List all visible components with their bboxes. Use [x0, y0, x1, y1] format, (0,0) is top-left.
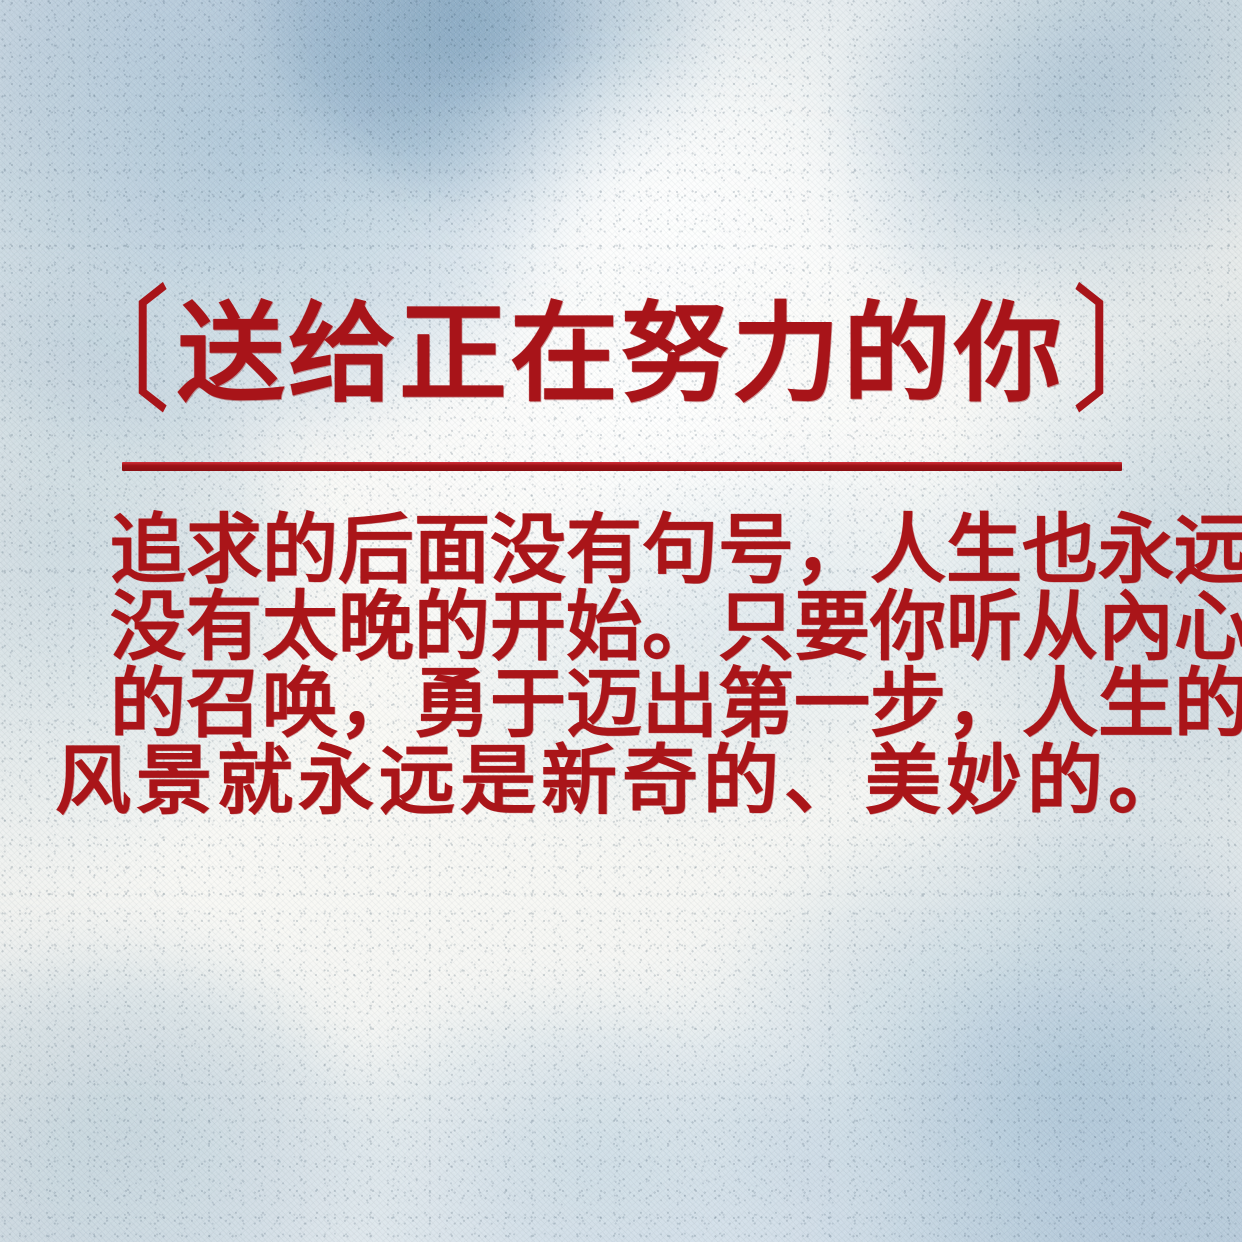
body-char: 远 — [1174, 512, 1242, 588]
body-char: 永 — [298, 743, 379, 819]
body-char: 追 — [110, 512, 186, 588]
body-char: 要 — [794, 589, 870, 665]
body-char: 唤 — [262, 666, 338, 742]
title-text: 送给正在努力的你 — [177, 296, 1065, 413]
body-char: 从 — [1022, 589, 1098, 665]
page-title: 〔 送给正在努力的你 〕 — [110, 296, 1132, 413]
body-char: ， — [946, 666, 1022, 742]
body-char: 人 — [870, 512, 946, 588]
body-char: 的 — [414, 589, 490, 665]
body-char: 美 — [865, 743, 946, 819]
body-char: 第 — [718, 666, 794, 742]
body-char: 、 — [784, 743, 865, 819]
body-char: 有 — [566, 512, 642, 588]
body-char: 的 — [110, 666, 186, 742]
bracket-close-icon: 〕 — [1071, 286, 1183, 423]
body-char: 就 — [217, 743, 298, 819]
body-char: 永 — [1098, 512, 1174, 588]
body-line: 没有太晚的开始。只要你听从內心 — [110, 589, 1134, 665]
body-char: 心 — [1174, 589, 1242, 665]
body-char: 你 — [870, 589, 946, 665]
body-char: 太 — [262, 589, 338, 665]
body-char: 生 — [1098, 666, 1174, 742]
body-char: 远 — [379, 743, 460, 819]
body-char: 新 — [541, 743, 622, 819]
body-char: 始 — [566, 589, 642, 665]
body-char: 晚 — [338, 589, 414, 665]
body-char: 內 — [1098, 589, 1174, 665]
body-char: 风 — [55, 743, 136, 819]
body-char: 出 — [642, 666, 718, 742]
body-char: 奇 — [622, 743, 703, 819]
body-char: 勇 — [414, 666, 490, 742]
body-char: 的 — [1027, 743, 1108, 819]
body-char: 也 — [1022, 512, 1098, 588]
body-char: 的 — [262, 512, 338, 588]
poster-content: 〔 送给正在努力的你 〕 追求的后面没有句号，人生也永远 没有太晚的开始。只要你… — [0, 0, 1242, 1242]
body-char: ， — [794, 512, 870, 588]
body-line: 风景就永远是新奇的、美妙的。 — [110, 743, 1134, 819]
body-char: 步 — [870, 666, 946, 742]
body-char: 句 — [642, 512, 718, 588]
body-char: 没 — [110, 589, 186, 665]
body-char: 求 — [186, 512, 262, 588]
body-char: 听 — [946, 589, 1022, 665]
body-text-block: 追求的后面没有句号，人生也永远 没有太晚的开始。只要你听从內心 的召唤，勇于迈出… — [110, 512, 1134, 819]
body-char: 迈 — [566, 666, 642, 742]
body-char: 有 — [186, 589, 262, 665]
divider-rule — [122, 462, 1122, 471]
bracket-open-icon: 〔 — [59, 286, 171, 423]
body-char: 召 — [186, 666, 262, 742]
poster-canvas: 〔 送给正在努力的你 〕 追求的后面没有句号，人生也永远 没有太晚的开始。只要你… — [0, 0, 1242, 1242]
body-char: ， — [338, 666, 414, 742]
body-char: 于 — [490, 666, 566, 742]
body-char: 没 — [490, 512, 566, 588]
body-char: 。 — [642, 589, 718, 665]
body-char: 是 — [460, 743, 541, 819]
body-char: 开 — [490, 589, 566, 665]
body-char: 的 — [1174, 666, 1242, 742]
body-char: 。 — [1108, 743, 1189, 819]
body-char: 面 — [414, 512, 490, 588]
body-char: 的 — [703, 743, 784, 819]
body-line: 追求的后面没有句号，人生也永远 — [110, 512, 1134, 588]
body-line: 的召唤，勇于迈出第一步，人生的 — [110, 666, 1134, 742]
body-char: 只 — [718, 589, 794, 665]
body-char: 生 — [946, 512, 1022, 588]
body-char: 人 — [1022, 666, 1098, 742]
body-char: 景 — [136, 743, 217, 819]
body-char: 号 — [718, 512, 794, 588]
body-char: 一 — [794, 666, 870, 742]
body-char: 妙 — [946, 743, 1027, 819]
body-char: 后 — [338, 512, 414, 588]
